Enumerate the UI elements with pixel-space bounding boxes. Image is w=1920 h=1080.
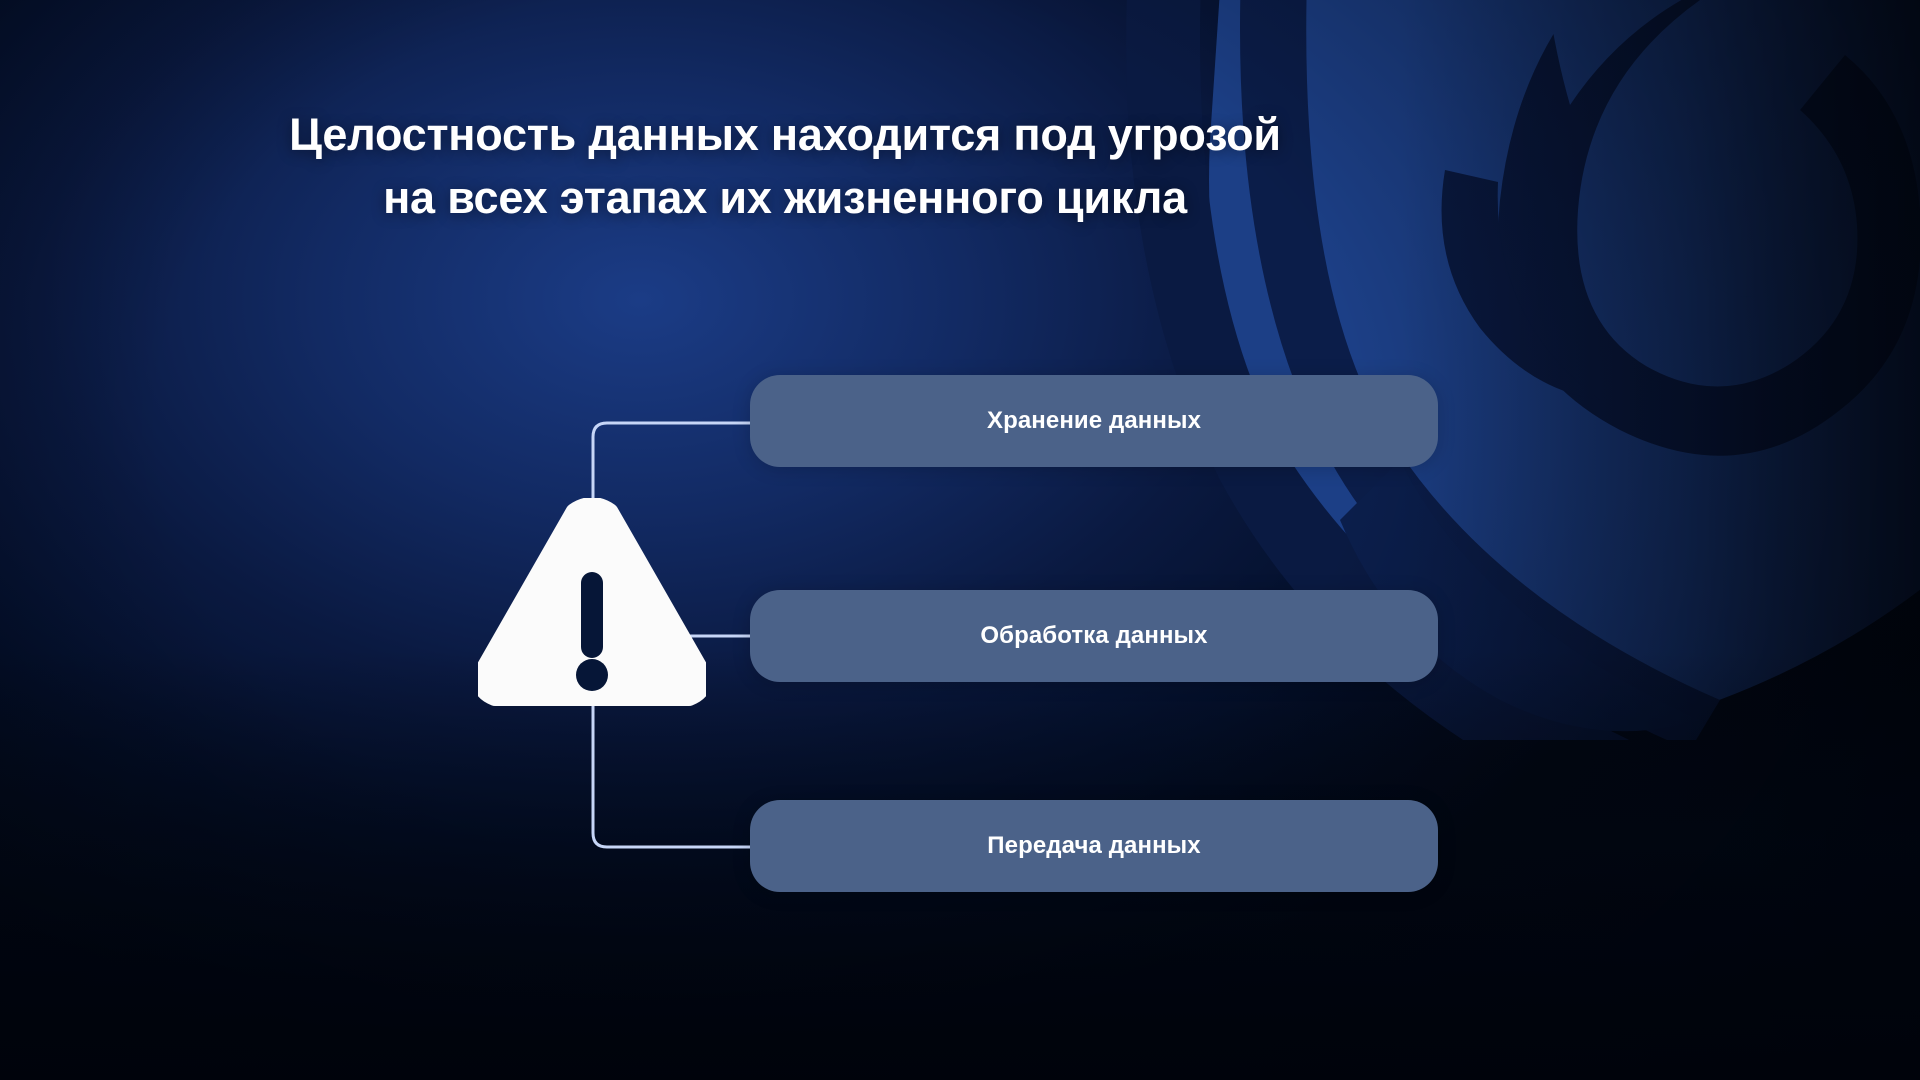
warning-triangle-icon bbox=[478, 498, 706, 706]
stage-label: Хранение данных bbox=[987, 407, 1201, 435]
stage-box-transfer[interactable]: Передача данных bbox=[750, 800, 1438, 892]
stage-box-storage[interactable]: Хранение данных bbox=[750, 375, 1438, 467]
connector-lines bbox=[0, 0, 1920, 1080]
stage-label: Обработка данных bbox=[980, 622, 1207, 650]
lifecycle-diagram: Хранение данных Обработка данных Передач… bbox=[0, 0, 1920, 1080]
stage-label: Передача данных bbox=[987, 832, 1200, 860]
slide-canvas: Целостность данных находится под угрозой… bbox=[0, 0, 1920, 1080]
stage-box-processing[interactable]: Обработка данных bbox=[750, 590, 1438, 682]
